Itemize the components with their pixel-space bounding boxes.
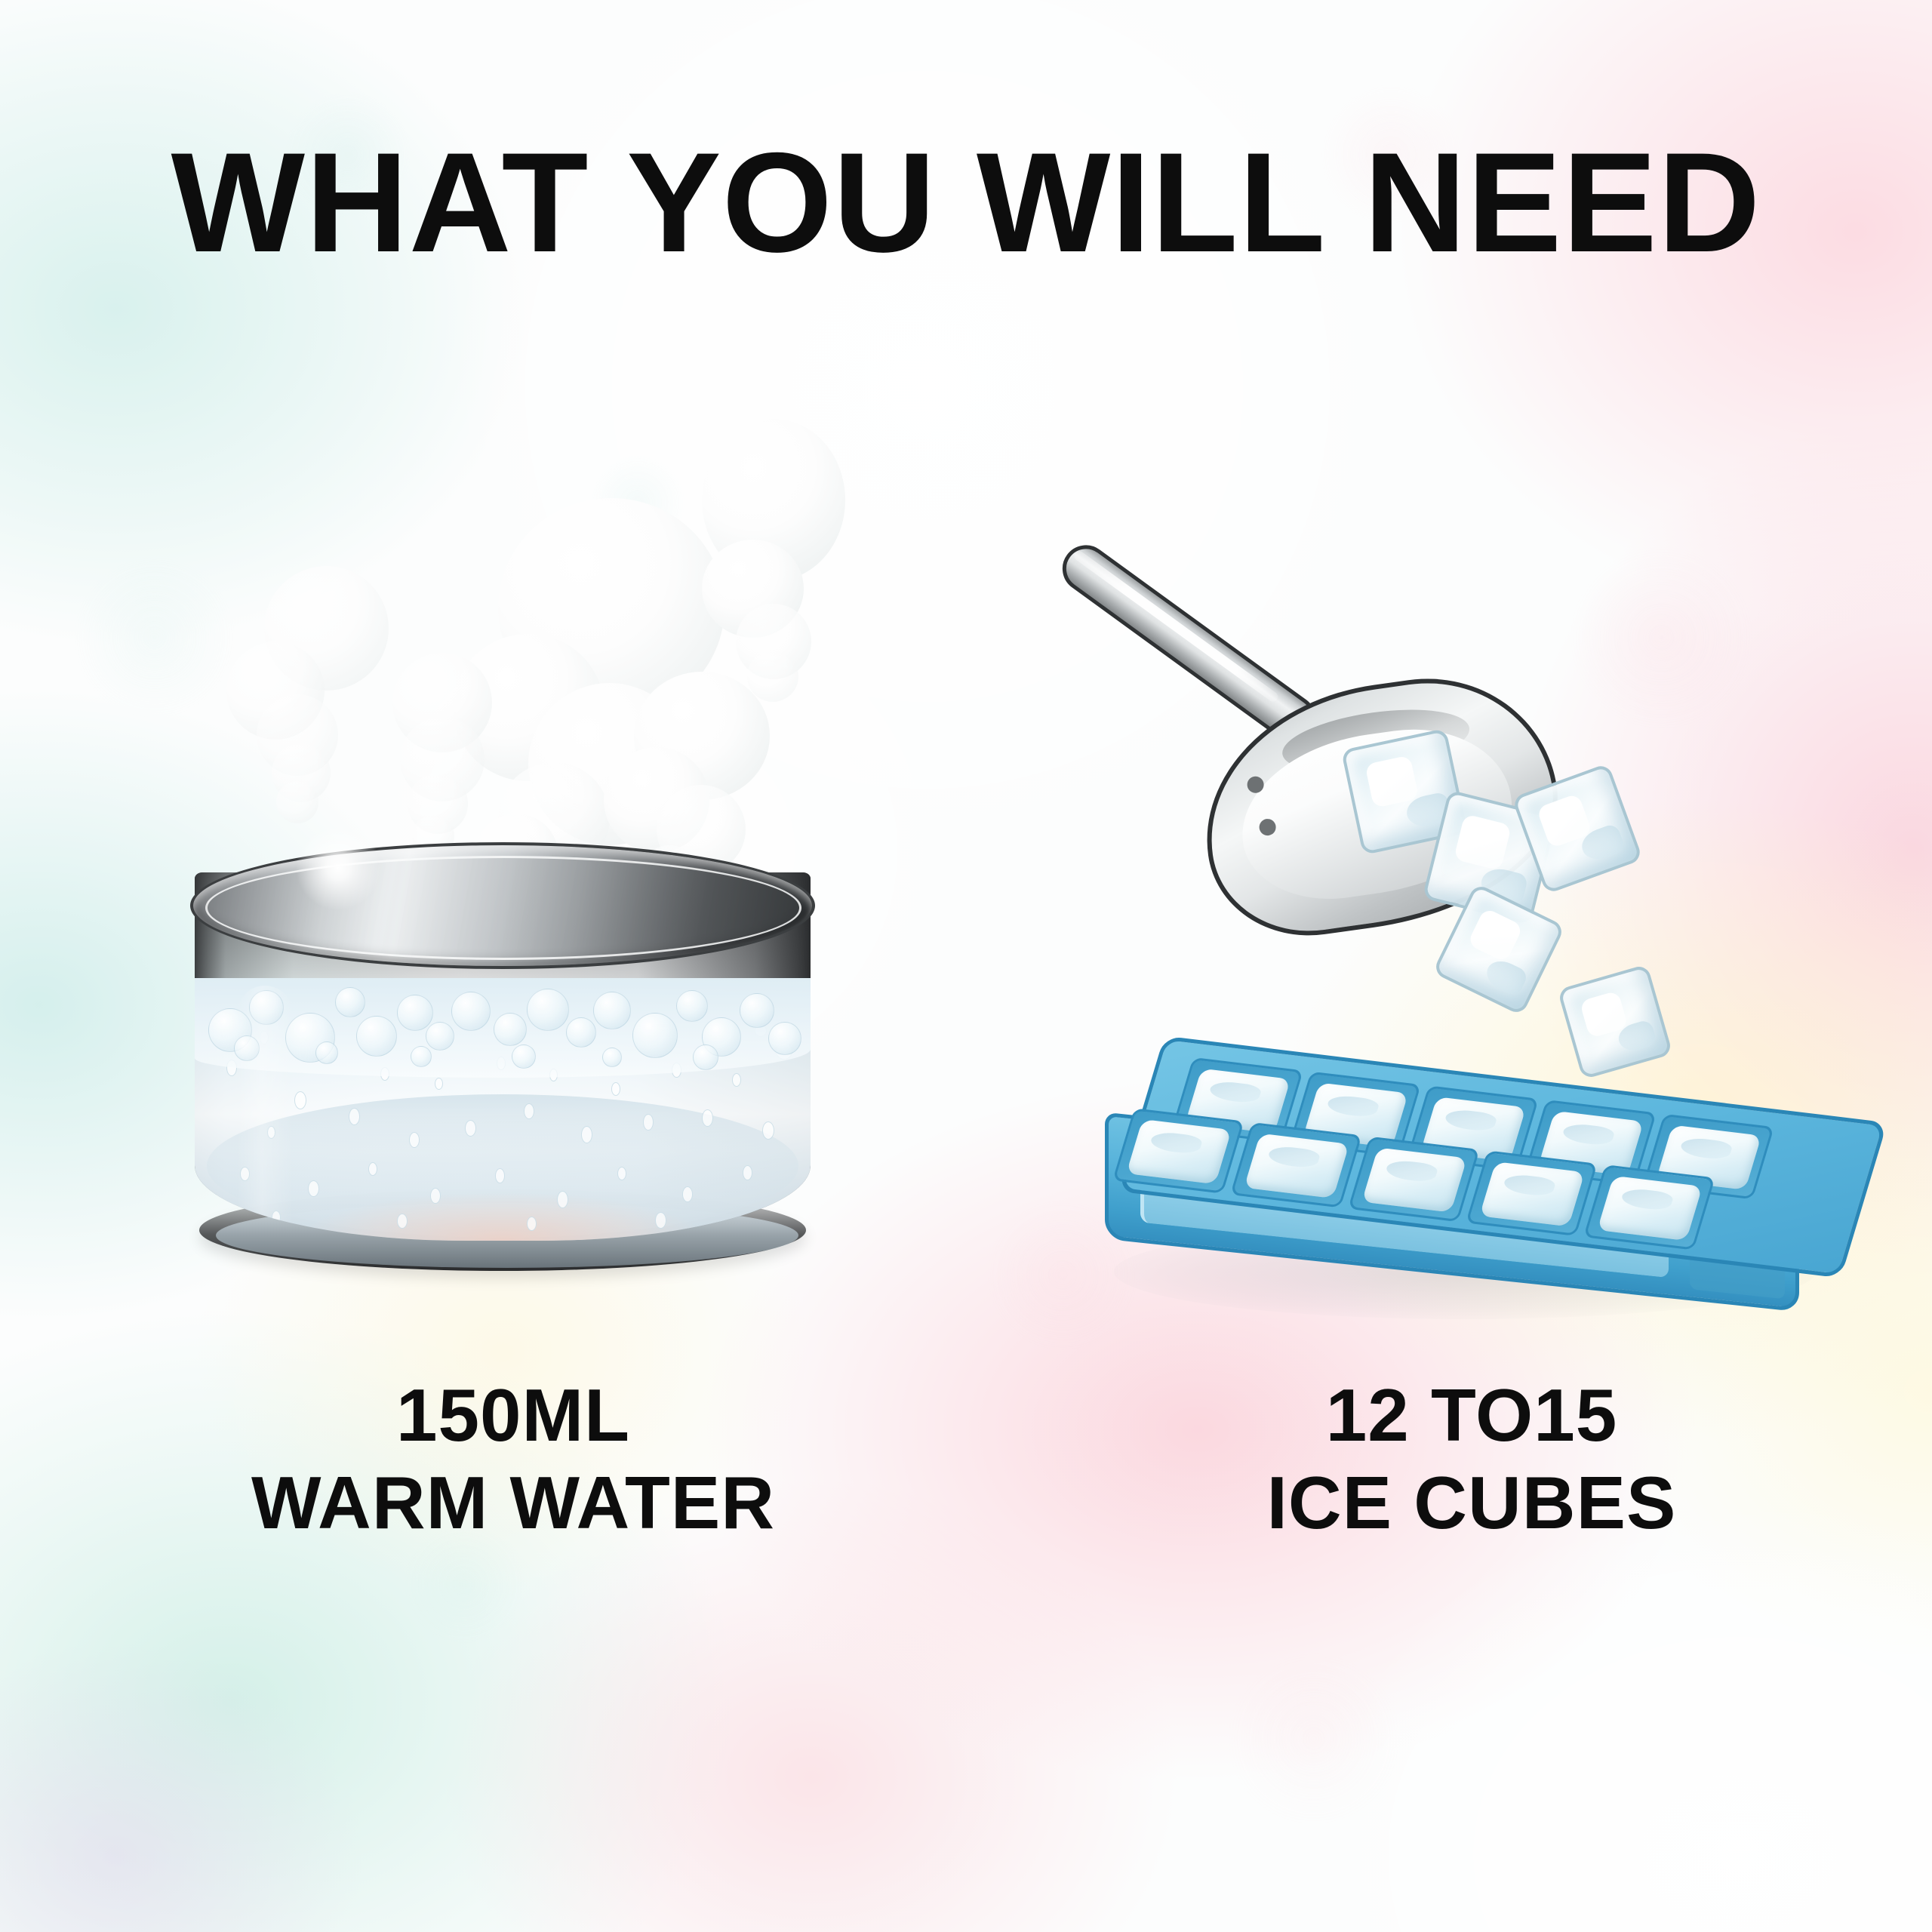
caption-warm-water-line1: 150ML (136, 1372, 891, 1460)
caption-warm-water: 150ML WARM WATER (136, 1372, 891, 1546)
tray-cell-ice (1597, 1176, 1703, 1241)
tray-cell (1348, 1137, 1480, 1223)
tray-cell (1466, 1150, 1598, 1236)
scoop-handle-highlight (1072, 549, 1280, 703)
glass-beaker (195, 842, 811, 1265)
item-ice-cubes (966, 0, 1932, 1358)
caption-warm-water-line2: WARM WATER (136, 1460, 891, 1547)
tray-cell-ice (1244, 1134, 1349, 1198)
glass-highlight (237, 986, 293, 1241)
tray-cell-ice (1479, 1161, 1585, 1226)
caption-ice-cubes-line1: 12 TO15 (1072, 1372, 1872, 1460)
item-warm-water (0, 0, 966, 1358)
rim-sparkle-icon (293, 823, 383, 913)
glass-rim (190, 842, 815, 969)
infographic-page: WHAT YOU WILL NEED (0, 0, 1932, 1932)
tray-cell (1112, 1108, 1244, 1194)
ice-cube-tray (1094, 1079, 1834, 1328)
caption-ice-cubes: 12 TO15 ICE CUBES (1072, 1372, 1872, 1546)
tray-cell-ice (1126, 1119, 1232, 1184)
tray-cell-ice (1361, 1147, 1467, 1212)
tray-cell (1230, 1122, 1362, 1208)
tray-cell (1583, 1164, 1715, 1251)
caption-ice-cubes-line2: ICE CUBES (1072, 1460, 1872, 1547)
